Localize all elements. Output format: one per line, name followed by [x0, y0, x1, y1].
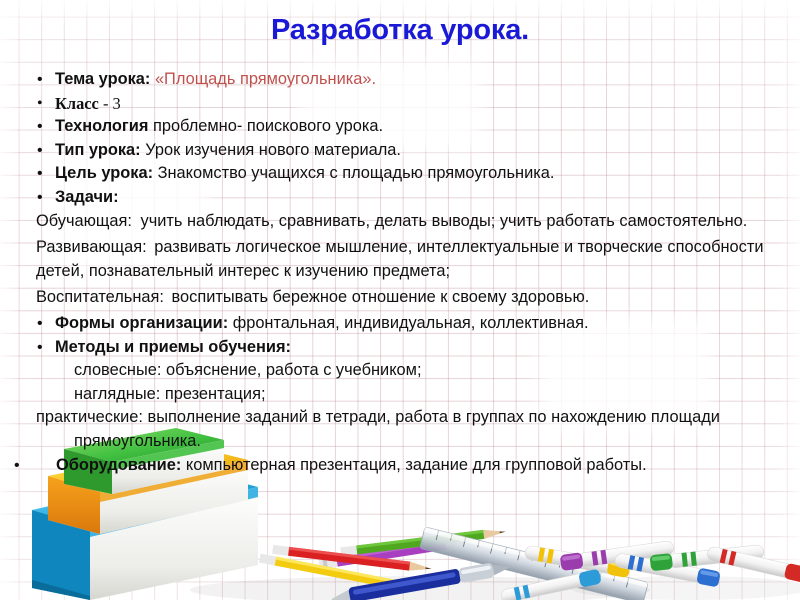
bullet-icon: •: [37, 162, 43, 186]
lesson-type-value: Урок изучения нового материала.: [145, 141, 401, 159]
task-developing: Развивающая: развивать логическое мышлен…: [28, 236, 788, 283]
method-practical: практические: выполнение заданий в тетра…: [28, 406, 788, 453]
purple-pencil: [318, 536, 470, 570]
equipment-label: Оборудование:: [56, 456, 181, 474]
bullet-icon: •: [37, 92, 43, 116]
tasks-label: Задачи:: [55, 188, 119, 206]
class-label: Класс: [55, 94, 99, 113]
list-item-class: • Класс - 3: [28, 92, 788, 116]
red-pencil: [272, 545, 432, 573]
bullet-icon: •: [37, 115, 43, 139]
method-verbal: словесные: объяснение, работа с учебнико…: [28, 359, 788, 383]
list-item-tasks-heading: • Задачи:: [28, 186, 788, 210]
blue-marker: [614, 552, 721, 588]
technology-label: Технология: [55, 117, 148, 135]
method-visual: наглядные: презентация;: [28, 383, 788, 407]
lesson-type-label: Тип урока:: [55, 141, 141, 159]
list-item-equipment: • Оборудование: компьютерная презентация…: [28, 454, 788, 478]
blue-book: [32, 472, 258, 600]
task-developing-label: Развивающая:: [36, 238, 147, 256]
task-upbringing-text: воспитывать бережное отношение к своему …: [172, 288, 590, 306]
forms-value: фронтальная, индивидуальная, коллективна…: [233, 314, 589, 332]
task-upbringing-label: Воспитательная:: [36, 288, 164, 306]
task-teaching-label: Обучающая:: [36, 212, 132, 230]
yellow-pencil: [259, 554, 418, 593]
blue-pen: [330, 559, 512, 600]
task-teaching: Обучающая: учить наблюдать, сравнивать, …: [28, 210, 788, 234]
theme-value: «Площадь прямоугольника».: [155, 70, 376, 88]
list-item-lesson-type: • Тип урока: Урок изучения нового матери…: [28, 139, 788, 163]
green-marker: [650, 543, 765, 571]
cyan-marker: [500, 569, 602, 600]
method-practical-text: практические: выполнение заданий в тетра…: [36, 408, 720, 450]
theme-label: Тема урока:: [55, 70, 150, 88]
page-title: Разработка урока.: [0, 14, 800, 47]
bullet-icon: •: [37, 68, 43, 92]
list-item-theme: • Тема урока: «Площадь прямоугольника».: [28, 68, 788, 92]
bullet-icon: •: [37, 312, 43, 336]
list-item-technology: • Технология проблемно- поискового урока…: [28, 115, 788, 139]
list-item-goal: • Цель урока: Знакомство учащихся с площ…: [28, 162, 788, 186]
class-value: - 3: [103, 94, 121, 113]
bullet-icon: •: [37, 186, 43, 210]
goal-label: Цель урока:: [55, 164, 153, 182]
yellow-marker: [524, 544, 631, 578]
ruler: [420, 527, 648, 600]
green-pencil: [340, 527, 506, 556]
forms-label: Формы организации:: [55, 314, 228, 332]
slide-canvas: Разработка урока. • Тема урока: «Площадь…: [0, 0, 800, 600]
equipment-value: компьютерная презентация, задание для гр…: [186, 456, 647, 474]
methods-label: Методы и приемы обучения:: [55, 338, 291, 356]
task-upbringing: Воспитательная: воспитывать бережное отн…: [28, 286, 788, 310]
list-item-methods: • Методы и приемы обучения:: [28, 336, 788, 360]
technology-value: проблемно- поискового урока.: [153, 117, 383, 135]
red-marker: [706, 545, 800, 584]
bullet-icon: •: [37, 139, 43, 163]
purple-marker: [560, 539, 675, 571]
task-teaching-text: учить наблюдать, сравнивать, делать выво…: [141, 212, 748, 230]
list-item-forms: • Формы организации: фронтальная, индиви…: [28, 312, 788, 336]
bullet-icon: •: [37, 336, 43, 360]
goal-value: Знакомство учащихся с площадью прямоугол…: [158, 164, 555, 182]
lesson-outline: • Тема урока: «Площадь прямоугольника». …: [28, 68, 788, 477]
